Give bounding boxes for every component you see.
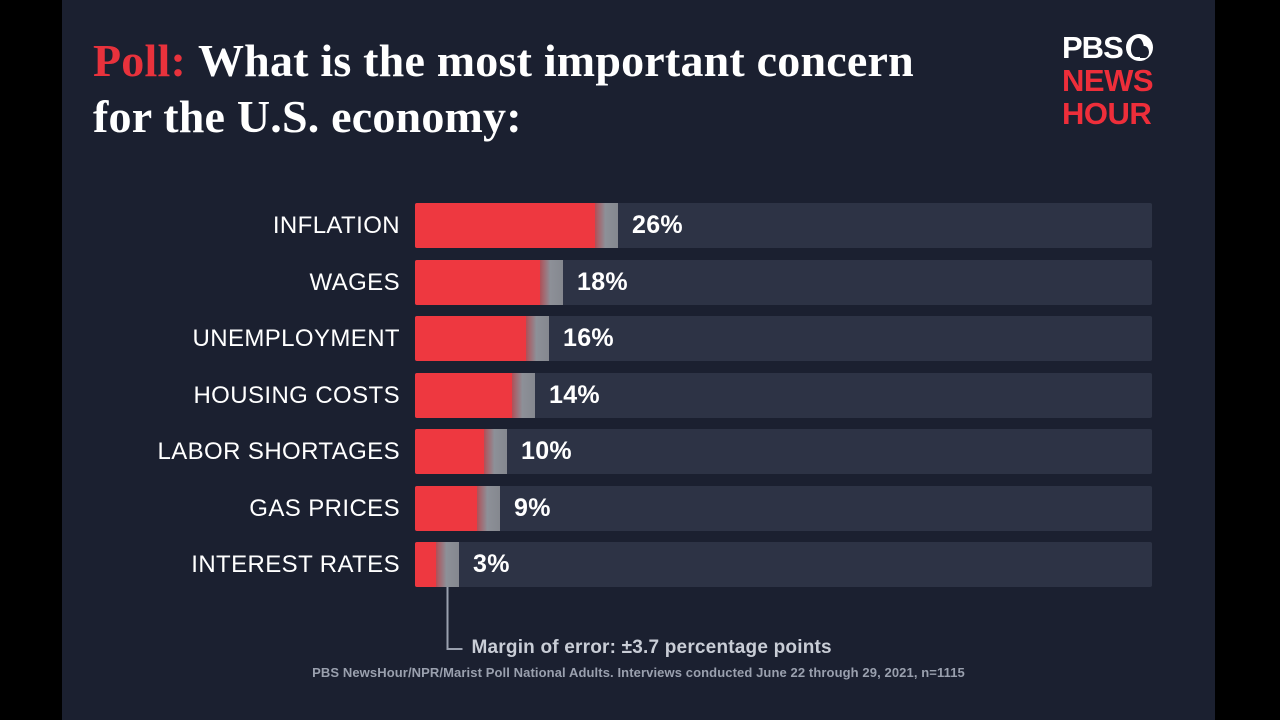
page-title: Poll:What is the most important concern … xyxy=(93,33,973,145)
bar-track xyxy=(415,316,1152,361)
bar-value-segment xyxy=(415,486,477,531)
title-question: What is the most important concern for t… xyxy=(93,35,914,142)
category-label: LABOR SHORTAGES xyxy=(62,429,400,474)
horizontal-bar-chart: INFLATION26%WAGES18%UNEMPLOYMENT16%HOUSI… xyxy=(62,170,1215,720)
letterbox-left xyxy=(0,0,62,720)
category-label: WAGES xyxy=(62,260,400,305)
bar-value-segment xyxy=(415,542,436,587)
logo-line-hour: HOUR xyxy=(1062,98,1187,129)
bar-track xyxy=(415,373,1152,418)
category-label: HOUSING COSTS xyxy=(62,373,400,418)
category-label: INTEREST RATES xyxy=(62,542,400,587)
pbs-newshour-logo: PBS NEWS HOUR xyxy=(1062,32,1187,129)
bar-value-label: 14% xyxy=(549,373,600,418)
pbs-head-icon xyxy=(1126,34,1153,61)
bar-margin-of-error-segment xyxy=(484,429,507,474)
bar-track xyxy=(415,542,1152,587)
slide-screen: Poll:What is the most important concern … xyxy=(0,0,1280,720)
chart-row: LABOR SHORTAGES10% xyxy=(62,429,1215,474)
chart-row: WAGES18% xyxy=(62,260,1215,305)
bar-value-segment xyxy=(415,260,540,305)
poll-slide: Poll:What is the most important concern … xyxy=(62,0,1215,720)
bar-value-label: 18% xyxy=(577,260,628,305)
category-label: UNEMPLOYMENT xyxy=(62,316,400,361)
chart-row: GAS PRICES9% xyxy=(62,486,1215,531)
bar-value-label: 10% xyxy=(521,429,572,474)
bar-margin-of-error-segment xyxy=(540,260,563,305)
margin-of-error-text: Margin of error: ±3.7 percentage points xyxy=(472,637,832,659)
bar-value-label: 3% xyxy=(473,542,510,587)
bar-margin-of-error-segment xyxy=(512,373,535,418)
bar-value-label: 9% xyxy=(514,486,551,531)
chart-row: INTEREST RATES3% xyxy=(62,542,1215,587)
source-note: PBS NewsHour/NPR/Marist Poll National Ad… xyxy=(62,665,1215,680)
bar-margin-of-error-segment xyxy=(436,542,459,587)
bar-margin-of-error-segment xyxy=(526,316,549,361)
chart-row: INFLATION26% xyxy=(62,203,1215,248)
chart-row: UNEMPLOYMENT16% xyxy=(62,316,1215,361)
bar-value-label: 16% xyxy=(563,316,614,361)
bar-value-label: 26% xyxy=(632,203,683,248)
logo-line-pbs: PBS xyxy=(1062,32,1187,63)
bar-margin-of-error-segment xyxy=(477,486,500,531)
bar-track xyxy=(415,203,1152,248)
bar-value-segment xyxy=(415,203,595,248)
logo-line-news: NEWS xyxy=(1062,65,1187,96)
bar-value-segment xyxy=(415,373,512,418)
letterbox-right xyxy=(1215,0,1280,720)
slide-header: Poll:What is the most important concern … xyxy=(62,0,1215,170)
title-poll-prefix: Poll: xyxy=(93,35,186,86)
category-label: INFLATION xyxy=(62,203,400,248)
bar-track xyxy=(415,260,1152,305)
bar-margin-of-error-segment xyxy=(595,203,618,248)
bar-value-segment xyxy=(415,429,484,474)
category-label: GAS PRICES xyxy=(62,486,400,531)
chart-row: HOUSING COSTS14% xyxy=(62,373,1215,418)
bar-value-segment xyxy=(415,316,526,361)
logo-pbs-text: PBS xyxy=(1062,32,1123,63)
